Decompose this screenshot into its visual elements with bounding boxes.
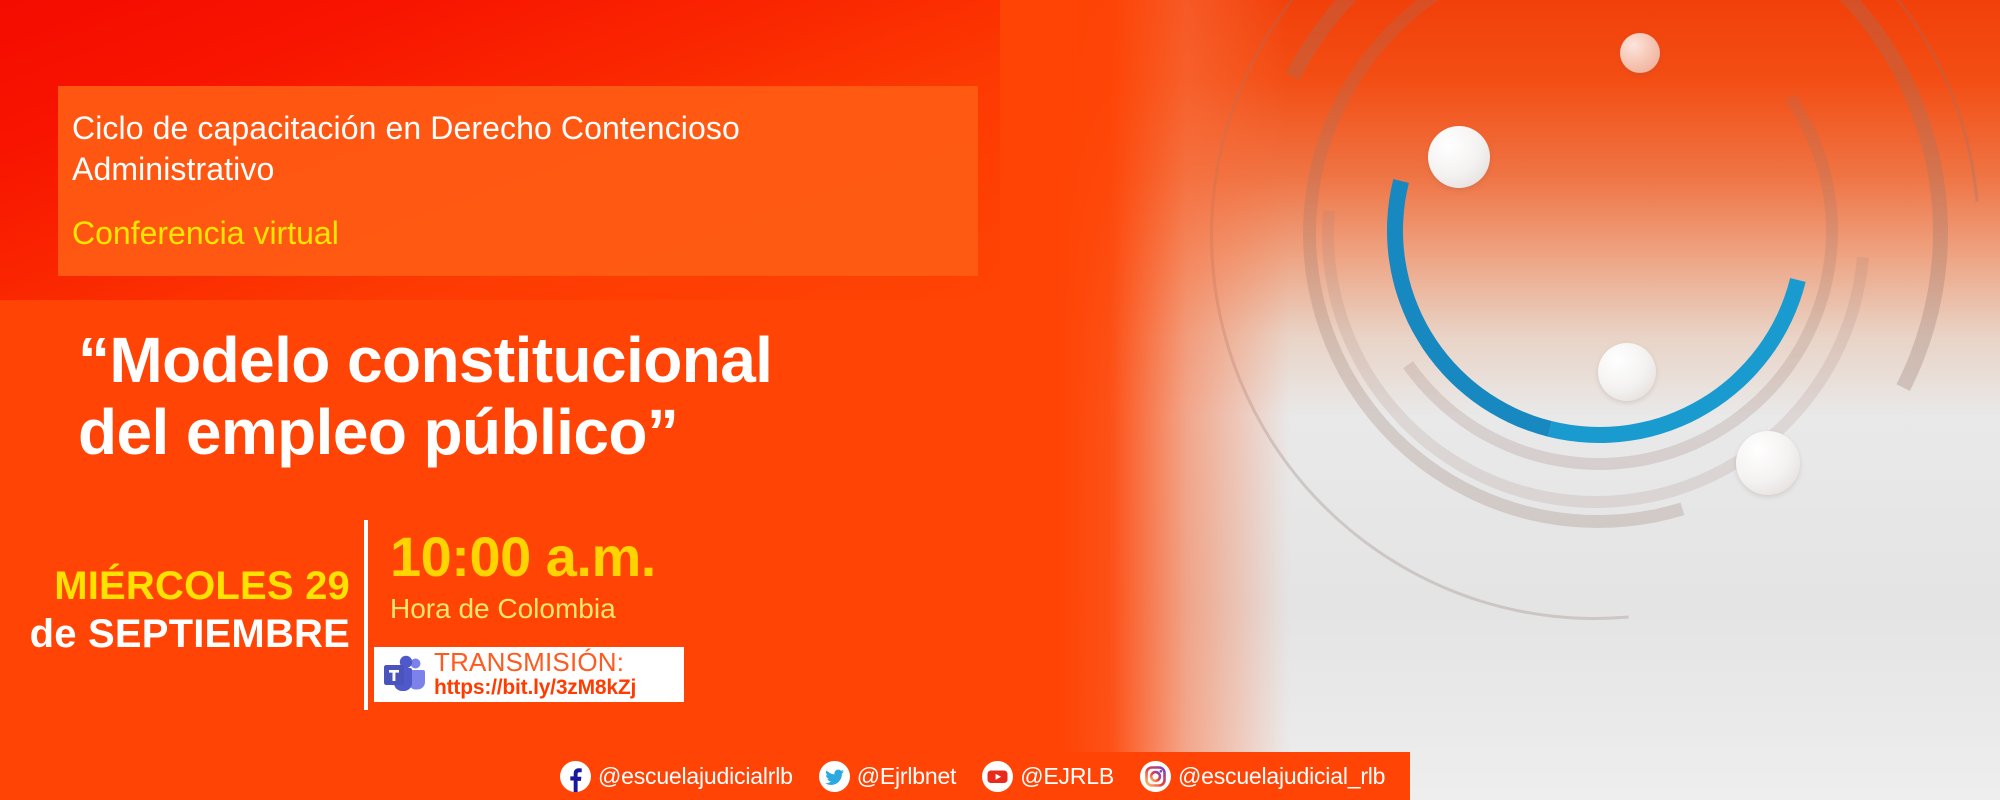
event-time-value: 10:00 a.m. — [390, 526, 810, 588]
event-format-label: Conferencia virtual — [72, 215, 339, 252]
social-item-youtube[interactable]: @EJRLB — [982, 761, 1114, 792]
social-handle-twitter: @Ejrlbnet — [857, 763, 957, 790]
transmission-box[interactable]: TRANSMISIÓN: https://bit.ly/3zM8kZj — [374, 647, 684, 702]
event-title: “Modelo constitucional del empleo públic… — [78, 324, 978, 468]
panel-left-fade — [1060, 0, 1290, 800]
floating-dot-top-icon — [1428, 126, 1490, 188]
program-kicker: Ciclo de capacitación en Derecho Contenc… — [72, 108, 912, 190]
vertical-divider — [364, 520, 368, 710]
facebook-icon[interactable] — [560, 761, 591, 792]
instagram-icon[interactable] — [1140, 761, 1171, 792]
right-graphic-panel — [1060, 0, 2000, 800]
social-item-facebook[interactable]: @escuelajudicialrlb — [560, 761, 793, 792]
microsoft-teams-icon — [382, 655, 426, 695]
event-date-day: MIÉRCOLES 29 — [0, 562, 350, 610]
social-item-instagram[interactable]: @escuelajudicial_rlb — [1140, 761, 1385, 792]
transmission-label: TRANSMISIÓN: — [434, 649, 636, 676]
floating-dot-bottom-icon — [1736, 431, 1800, 495]
twitter-icon[interactable] — [819, 761, 850, 792]
youtube-icon[interactable] — [982, 761, 1013, 792]
social-item-twitter[interactable]: @Ejrlbnet — [819, 761, 957, 792]
social-handle-facebook: @escuelajudicialrlb — [598, 763, 793, 790]
event-time: 10:00 a.m. Hora de Colombia — [390, 526, 810, 626]
social-handle-youtube: @EJRLB — [1020, 763, 1114, 790]
event-date: MIÉRCOLES 29 de SEPTIEMBRE — [0, 562, 350, 658]
transmission-url[interactable]: https://bit.ly/3zM8kZj — [434, 676, 636, 700]
floating-dot-small-icon — [1620, 33, 1660, 73]
social-handle-instagram: @escuelajudicial_rlb — [1178, 763, 1385, 790]
event-date-month: de SEPTIEMBRE — [0, 610, 350, 658]
event-time-zone: Hora de Colombia — [390, 592, 810, 626]
floating-dot-mid-icon — [1598, 343, 1656, 401]
social-bar: @escuelajudicialrlb @Ejrlbnet @EJRLB — [560, 752, 1397, 800]
event-promo-banner: Ciclo de capacitación en Derecho Contenc… — [0, 0, 2000, 800]
